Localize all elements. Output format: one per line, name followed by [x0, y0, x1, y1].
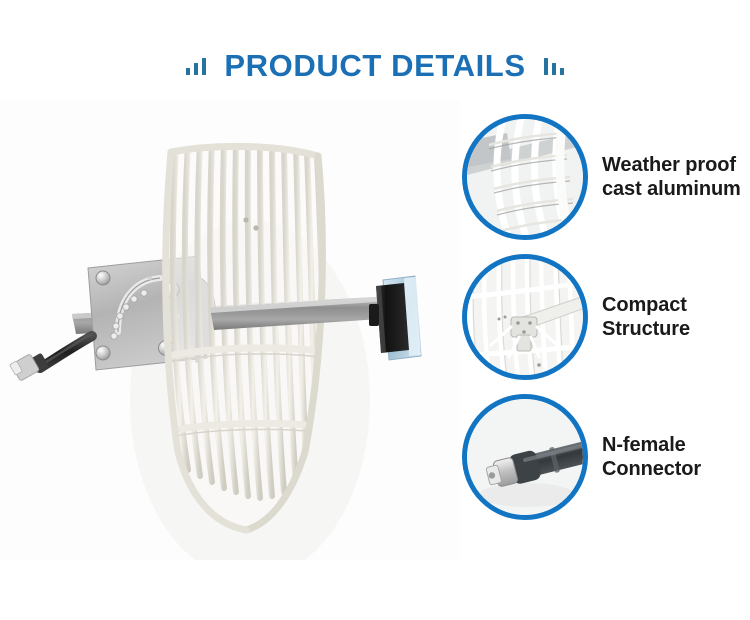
feature-label-compact-structure: Compact Structure: [602, 293, 750, 342]
page-header: PRODUCT DETAILS: [0, 38, 750, 92]
bar-chart-descending-icon: [544, 55, 564, 75]
compact-structure-icon: [467, 259, 583, 375]
hero-product-image: [0, 100, 460, 560]
feature-item-weather-proof-cast-aluminum[interactable]: Weather proof cast aluminum: [462, 112, 750, 242]
coaxial-cable-and-connector: [10, 334, 92, 381]
feature-callout-list: Weather proof cast aluminum: [462, 108, 750, 524]
cast-aluminum-closeup-icon: [467, 119, 583, 235]
feature-item-compact-structure[interactable]: Compact Structure: [462, 252, 750, 382]
feature-label-n-female-connector: N-female Connector: [602, 433, 750, 482]
n-female-connector-icon: [467, 399, 583, 515]
grid-antenna-illustration: [0, 100, 460, 560]
feature-item-n-female-connector[interactable]: N-female Connector: [462, 392, 750, 522]
feature-thumb-n-female-connector: [462, 394, 588, 520]
page-title: PRODUCT DETAILS: [224, 50, 525, 81]
feature-thumb-weather-proof-cast-aluminum: [462, 114, 588, 240]
feed-element: [369, 276, 421, 360]
bar-chart-ascending-icon: [186, 55, 206, 75]
product-details-page: PRODUCT DETAILS: [0, 0, 750, 620]
feature-thumb-compact-structure: [462, 254, 588, 380]
feature-label-weather-proof-cast-aluminum: Weather proof cast aluminum: [602, 153, 750, 202]
